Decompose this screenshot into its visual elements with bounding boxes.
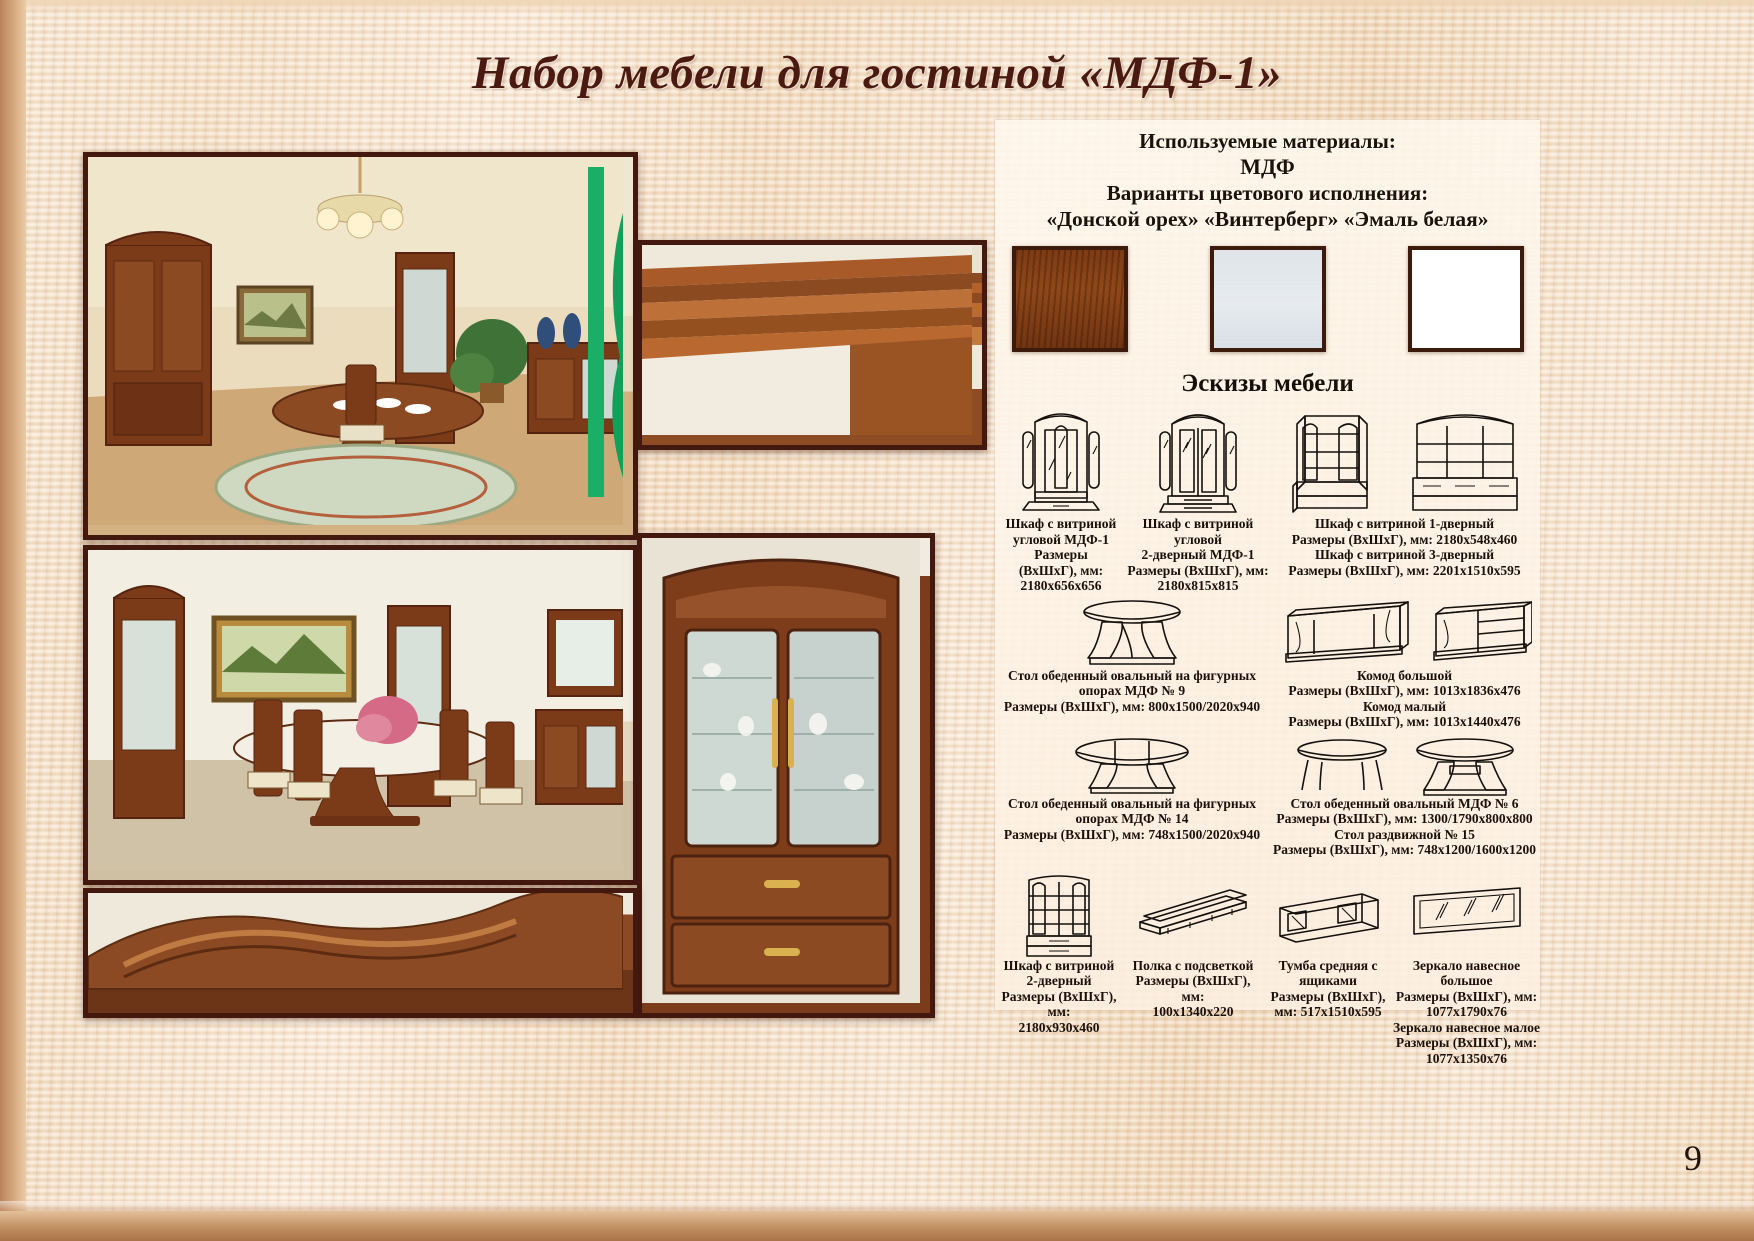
- sketch-caption-line: Размеры (ВхШхГ), мм:: [1393, 1035, 1540, 1051]
- display-cabinet-3door-icon: [1409, 404, 1521, 516]
- sketch-caption-line: Шкаф с витриной 3-дверный: [1269, 547, 1540, 563]
- sketch-caption-line: Тумба средняя с: [1263, 958, 1393, 974]
- sketch-caption-line: угловой МДФ-1: [995, 532, 1127, 548]
- specifications-panel: Используемые материалы: МДФ Варианты цве…: [995, 120, 1540, 1010]
- page-edge-bottom-highlight: [0, 1201, 1754, 1211]
- page-number: 9: [1684, 1137, 1702, 1179]
- color-swatch-row: [995, 246, 1540, 352]
- material-name: МДФ: [995, 154, 1540, 180]
- sketch-item-4: Комод большой Размеры (ВхШхГ), мм: 1013x…: [1269, 596, 1540, 730]
- sketch-item-1: Шкаф с витриной угловой 2-дверный МДФ-1 …: [1127, 404, 1269, 594]
- sketch-caption-line: Полка с подсветкой: [1123, 958, 1263, 974]
- photo-dining-room-with-landscape-painting: [83, 545, 638, 885]
- sketch-item-5: Стол обеденный овальный на фигурных опор…: [995, 734, 1269, 858]
- sketch-caption-line: Шкаф с витриной: [1127, 516, 1269, 532]
- sketch-caption-line: угловой: [1127, 532, 1269, 548]
- sketch-caption-line: Размеры (ВхШхГ), мм:: [1123, 973, 1263, 1004]
- sketch-caption-line: 2180x930x460: [995, 1020, 1123, 1036]
- sketch-caption-line: Размеры (ВхШхГ), мм:: [1393, 989, 1540, 1005]
- swatch-vinterberg: [1210, 246, 1326, 352]
- small-sideboard-icon: [1428, 598, 1532, 668]
- sketch-caption-line: Размеры (ВхШхГ), мм: 1300/1790x800x800: [1269, 811, 1540, 827]
- sketch-item-3: Стол обеденный овальный на фигурных опор…: [995, 596, 1269, 730]
- oval-dining-table-9-icon: [995, 596, 1269, 668]
- sketch-caption-line: Зеркало навесное большое: [1393, 958, 1540, 989]
- sketch-caption-line: Зеркало навесное малое: [1393, 1020, 1540, 1036]
- sketch-item-8: Полка с подсветкой Размеры (ВхШхГ), мм: …: [1123, 866, 1263, 1067]
- sketch-caption-line: Размеры (ВхШхГ), мм: 2201x1510x595: [1269, 563, 1540, 579]
- page-edge-top: [0, 0, 1754, 14]
- color-options-names: «Донской орех» «Винтерберг» «Эмаль белая…: [995, 206, 1540, 232]
- sketch-caption-line: Размеры (ВхШхГ), мм:: [995, 989, 1123, 1020]
- corner-display-cabinet-2door-icon: [1127, 404, 1269, 516]
- sketch-caption-line: Размеры (ВхШхГ), мм: 748x1200/1600x1200: [1269, 842, 1540, 858]
- sketch-caption-line: Комод большой: [1269, 668, 1540, 684]
- sketch-caption-line: Размеры (ВхШхГ), мм:: [1127, 563, 1269, 579]
- sketch-caption-line: 2-дверный: [995, 973, 1123, 989]
- sketch-caption-line: ящиками: [1263, 973, 1393, 989]
- sketch-caption-line: 1077x1350x76: [1393, 1051, 1540, 1067]
- sketch-caption-line: Размеры (ВхШхГ), мм: 1013x1440x476: [1269, 714, 1540, 730]
- sketch-caption-line: Размеры (ВхШхГ), мм: 1013x1836x476: [1269, 683, 1540, 699]
- photo-dining-room-with-chandelier: [83, 152, 638, 540]
- sketch-item-10: Зеркало навесное большое Размеры (ВхШхГ)…: [1393, 866, 1540, 1067]
- sketch-caption-line: опорах МДФ № 14: [995, 811, 1269, 827]
- oval-table-6-icon: [1290, 736, 1394, 796]
- sketch-caption-line: Стол раздвижной № 15: [1269, 827, 1540, 843]
- sketch-caption-line: Стол обеденный овальный МДФ № 6: [1269, 796, 1540, 812]
- oval-dining-table-14-icon: [995, 734, 1269, 796]
- sketch-caption-line: Стол обеденный овальный на фигурных: [995, 796, 1269, 812]
- photo-cornice-detail: [637, 240, 987, 450]
- sideboard-icon: [1278, 598, 1410, 668]
- sketch-caption-line: Размеры (ВхШхГ), мм: 2180x548x460: [1269, 532, 1540, 548]
- sketch-item-0: Шкаф с витриной угловой МДФ-1 Размеры (В…: [995, 404, 1127, 594]
- materials-heading: Используемые материалы:: [995, 128, 1540, 154]
- sketch-caption-line: 2180x656x656: [995, 578, 1127, 594]
- sketch-caption-line: опорах МДФ № 9: [995, 683, 1269, 699]
- photo-carved-pediment-detail: [83, 888, 638, 1018]
- sketch-caption-line: Размеры (ВхШхГ), мм: 748x1500/2020x940: [995, 827, 1269, 843]
- sketch-caption-line: 2-дверный МДФ-1: [1127, 547, 1269, 563]
- sketch-item-2: Шкаф с витриной 1-дверный Размеры (ВхШхГ…: [1269, 404, 1540, 594]
- tv-stand-icon: [1263, 866, 1393, 958]
- corner-display-cabinet-icon: [995, 404, 1127, 516]
- sketch-caption-line: мм: 517x1510x595: [1263, 1004, 1393, 1020]
- swatch-donskoy-oreh: [1012, 246, 1128, 352]
- sketch-caption-line: (ВхШхГ), мм:: [995, 563, 1127, 579]
- display-cabinet-2door-icon: [995, 866, 1123, 958]
- sketch-caption-line: Размеры (ВхШхГ),: [1263, 989, 1393, 1005]
- sketch-caption-line: 100x1340x220: [1123, 1004, 1263, 1020]
- sketch-caption-line: Стол обеденный овальный на фигурных: [995, 668, 1269, 684]
- sketch-caption-line: Размеры: [995, 547, 1127, 563]
- sketch-item-9: Тумба средняя с ящиками Размеры (ВхШхГ),…: [1263, 866, 1393, 1067]
- color-options-heading: Варианты цветового исполнения:: [995, 180, 1540, 206]
- photo-tall-display-cabinet: [637, 533, 935, 1018]
- page-title: Набор мебели для гостиной «МДФ-1»: [0, 46, 1754, 100]
- sketch-caption-line: 1077x1790x76: [1393, 1004, 1540, 1020]
- sketch-caption-line: Шкаф с витриной: [995, 958, 1123, 974]
- sketch-item-7: Шкаф с витриной 2-дверный Размеры (ВхШхГ…: [995, 866, 1123, 1067]
- sketches-heading: Эскизы мебели: [995, 370, 1540, 398]
- sketch-caption-line: Шкаф с витриной: [995, 516, 1127, 532]
- sketch-caption-line: Комод малый: [1269, 699, 1540, 715]
- page-edge-left: [0, 0, 26, 1241]
- wall-mirror-icon: [1393, 866, 1540, 958]
- extendable-table-15-icon: [1410, 736, 1520, 796]
- page-edge-bottom: [0, 1211, 1754, 1241]
- lighted-shelf-icon: [1123, 866, 1263, 958]
- sketch-caption-line: Размеры (ВхШхГ), мм: 800x1500/2020x940: [995, 699, 1269, 715]
- sketch-caption-line: Шкаф с витриной 1-дверный: [1269, 516, 1540, 532]
- materials-heading-block: Используемые материалы: МДФ Варианты цве…: [995, 120, 1540, 232]
- swatch-emal-belaya: [1408, 246, 1524, 352]
- catalog-page: Набор мебели для гостиной «МДФ-1»: [0, 0, 1754, 1241]
- sketch-caption-line: 2180x815x815: [1127, 578, 1269, 594]
- display-cabinet-1door-icon: [1289, 404, 1375, 516]
- sketch-item-6: Стол обеденный овальный МДФ № 6 Размеры …: [1269, 734, 1540, 858]
